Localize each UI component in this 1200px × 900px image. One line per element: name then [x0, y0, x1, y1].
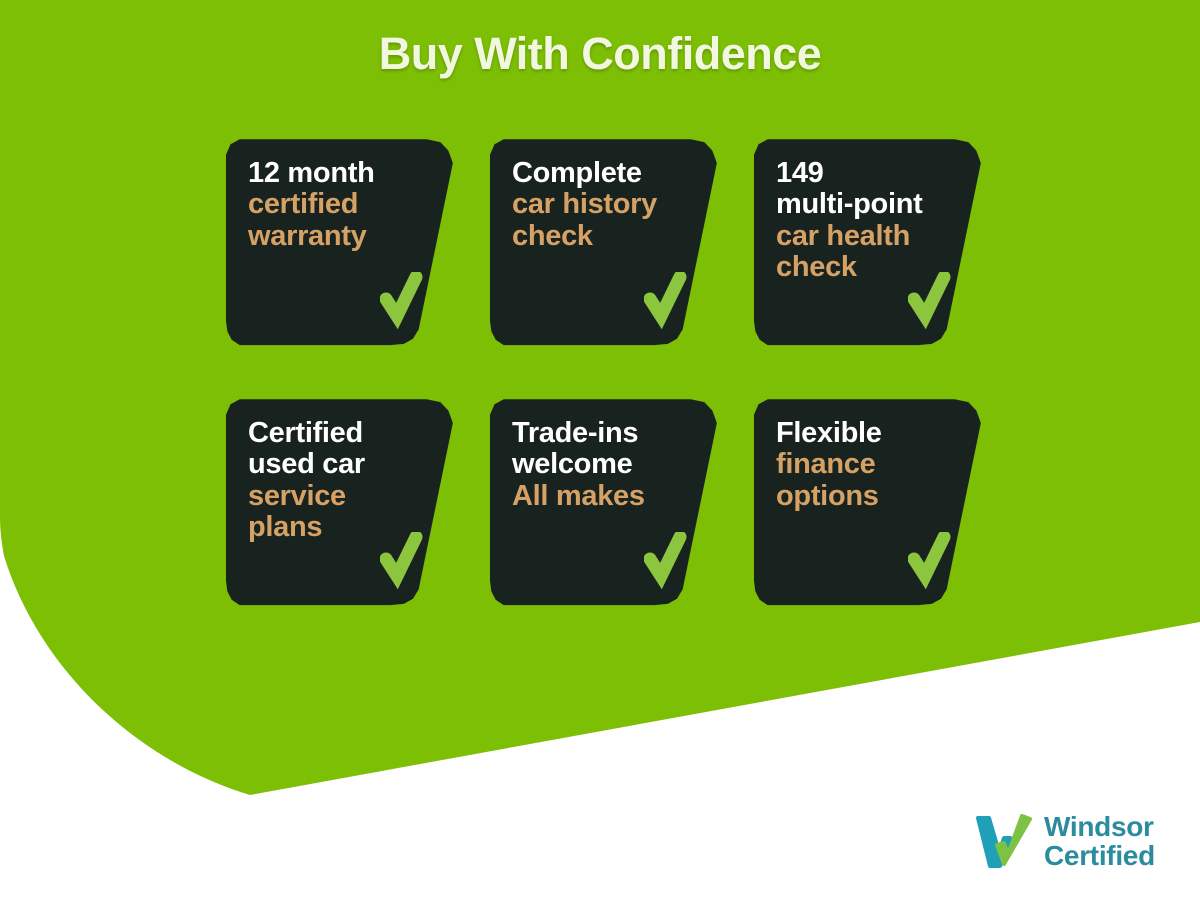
card-text: Trade-ins welcome All makes: [512, 418, 684, 512]
logo-line-2: Certified: [1044, 841, 1155, 870]
card-line: 12 month: [248, 158, 420, 189]
card-line: certified: [248, 189, 420, 220]
feature-card-trade-ins[interactable]: Trade-ins welcome All makes: [490, 398, 718, 606]
card-text: Flexible finance options: [776, 418, 948, 512]
feature-card-grid: 12 month certified warranty Complete car…: [226, 138, 986, 658]
check-icon: [380, 272, 430, 334]
feature-card-car-history-check[interactable]: Complete car history check: [490, 138, 718, 346]
card-line: Flexible: [776, 418, 948, 449]
card-line: multi-point: [776, 189, 948, 220]
card-line: Complete: [512, 158, 684, 189]
feature-card-certified-warranty[interactable]: 12 month certified warranty: [226, 138, 454, 346]
feature-card-finance-options[interactable]: Flexible finance options: [754, 398, 982, 606]
card-text: 149 multi-point car health check: [776, 158, 948, 284]
card-line: car health: [776, 221, 948, 252]
card-text: Certified used car service plans: [248, 418, 420, 544]
slide-canvas: Buy With Confidence 12 month certified w…: [0, 0, 1200, 900]
card-line: used car: [248, 449, 420, 480]
card-line: 149: [776, 158, 948, 189]
logo-wordmark: Windsor Certified: [1044, 812, 1155, 870]
windsor-certified-logo[interactable]: Windsor Certified: [973, 812, 1155, 870]
card-line: options: [776, 481, 948, 512]
feature-card-service-plans[interactable]: Certified used car service plans: [226, 398, 454, 606]
card-line: finance: [776, 449, 948, 480]
card-line: welcome: [512, 449, 684, 480]
card-line: service: [248, 481, 420, 512]
check-icon: [380, 532, 430, 594]
card-line: Trade-ins: [512, 418, 684, 449]
card-line: Certified: [248, 418, 420, 449]
logo-line-1: Windsor: [1044, 812, 1155, 841]
feature-row-top: 12 month certified warranty Complete car…: [226, 138, 986, 346]
card-text: Complete car history check: [512, 158, 684, 252]
page-title: Buy With Confidence: [0, 28, 1200, 80]
feature-row-bottom: Certified used car service plans Trade-i…: [226, 398, 986, 606]
check-icon: [644, 532, 694, 594]
check-icon: [644, 272, 694, 334]
card-line: warranty: [248, 221, 420, 252]
feature-card-car-health-check[interactable]: 149 multi-point car health check: [754, 138, 982, 346]
card-line: All makes: [512, 481, 684, 512]
card-text: 12 month certified warranty: [248, 158, 420, 252]
check-icon: [908, 532, 958, 594]
check-icon: [908, 272, 958, 334]
card-line: car history: [512, 189, 684, 220]
card-line: check: [512, 221, 684, 252]
windsor-w-icon: [973, 812, 1035, 870]
